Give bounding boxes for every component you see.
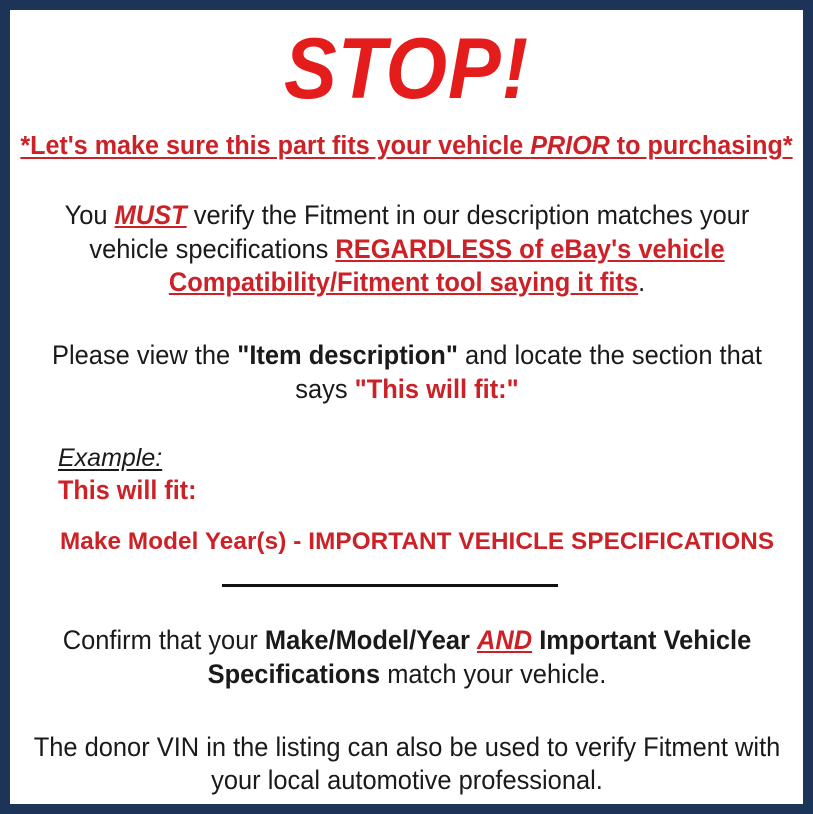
must-paragraph-seg1: You [64,200,114,230]
must-verify-paragraph: You MUST verify the Fitment in our descr… [32,161,781,299]
closing-thank-you: Thank you for confirming Fitment! [22,798,791,804]
example-block: Example: This will fit: Make Model Year(… [10,406,803,556]
subheadline-emphasis-prior: PRIOR [530,132,610,160]
confirm-seg1: Confirm that your [62,625,264,655]
example-spec-line: Make Model Year(s) - IMPORTANT VEHICLE S… [58,506,796,556]
confirm-seg2: match your vehicle. [380,659,606,689]
item-desc-seg1: Please view the [52,340,237,370]
subheadline-tail: to purchasing* [610,132,793,160]
fitment-notice-poster: STOP! *Let's make sure this part fits yo… [0,0,813,814]
subheadline-lead: *Let's make sure this part fits your veh… [20,132,530,160]
example-label: Example: [58,444,162,473]
emphasis-and: AND [477,625,532,655]
emphasis-make-model-year: Make/Model/Year [264,625,469,655]
emphasis-item-description: "Item description" [237,340,458,370]
emphasis-this-will-fit: "This will fit:" [354,374,518,404]
must-paragraph-seg3: . [638,267,645,297]
item-description-paragraph: Please view the "Item description" and l… [27,299,785,406]
page-title: STOP! [42,10,772,112]
confirm-paragraph: Confirm that your Make/Model/Year AND Im… [30,598,783,691]
horizontal-divider [222,584,558,587]
subheadline: *Let's make sure this part fits your veh… [16,112,797,161]
confirm-space-1 [469,625,476,655]
poster-sheet: STOP! *Let's make sure this part fits yo… [10,10,803,804]
divider-wrapper [10,556,803,598]
example-this-will-fit: This will fit: [58,473,766,506]
donor-vin-paragraph: The donor VIN in the listing can also be… [27,691,785,798]
confirm-space-2 [532,625,539,655]
example-label-row: Example: [58,444,803,473]
emphasis-must: MUST [114,200,186,230]
